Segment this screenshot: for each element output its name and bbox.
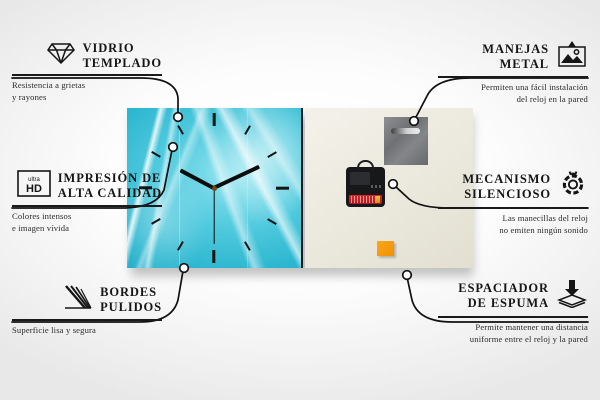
clock-tick	[213, 250, 216, 263]
clock-tick	[244, 241, 251, 251]
feature-sub-line1: Resistencia a grietas	[12, 79, 162, 91]
feature-espaciador-espuma: ESPACIADOR DE ESPUMA Permite mantener un…	[438, 278, 588, 345]
diamond-icon	[46, 40, 76, 71]
feature-rule	[438, 316, 588, 318]
svg-text:HD: HD	[26, 183, 42, 195]
foam-spacer-icon	[556, 278, 588, 313]
quartz-mechanism	[346, 167, 385, 207]
clock-tick	[177, 125, 184, 135]
clock-tick	[151, 151, 161, 158]
feature-vidrio-templado: VIDRIO TEMPLADO Resistencia a grietas y …	[12, 40, 162, 103]
feature-title-line2: DE ESPUMA	[458, 296, 549, 311]
feature-manejas-metal: MANEJAS METAL Permiten una fácil instala…	[438, 40, 588, 105]
metal-hanger-plate-icon	[384, 117, 428, 165]
feature-title-line2: TEMPLADO	[83, 56, 162, 71]
feature-title-line2: ALTA CALIDAD	[58, 186, 162, 201]
clock-hour-hand	[179, 168, 215, 190]
clock-tick	[213, 113, 216, 126]
mechanism-panel	[350, 172, 370, 185]
feature-sub-line2: y rayones	[12, 91, 162, 103]
feature-sub-line2: no emiten ningún sonido	[438, 224, 588, 236]
feature-rule	[12, 74, 162, 76]
battery	[349, 195, 382, 204]
clock-tick	[244, 125, 251, 135]
ultra-hd-icon: ultra HD	[17, 170, 51, 202]
feature-sub-line1: Superficie lisa y segura	[12, 324, 162, 336]
feature-sub-line2: e imagen vívida	[12, 222, 162, 234]
feature-impresion-alta-calidad: ultra HD IMPRESIÓN DE ALTA CALIDAD Color…	[12, 170, 162, 234]
product-panels	[127, 108, 473, 272]
clock-hub	[212, 186, 217, 191]
feature-sub-line1: Colores intensos	[12, 210, 162, 222]
feature-sub-line2: del reloj en la pared	[438, 93, 588, 105]
clock-minute-hand	[213, 165, 260, 190]
feature-rule	[438, 207, 588, 209]
feature-sub-line1: Las manecillas del reloj	[438, 212, 588, 224]
mechanism-hang-loop	[357, 160, 374, 170]
clock-tick	[276, 187, 289, 190]
feature-mecanismo-silencioso: MECANISMO SILENCIOSO Las manecillas del …	[438, 170, 588, 236]
feature-rule	[12, 319, 162, 321]
feature-title-line1: BORDES	[100, 285, 162, 300]
feature-sub-line2: uniforme entre el reloj y la pared	[438, 333, 588, 345]
feature-title-line1: ESPACIADOR	[458, 281, 549, 296]
clock-second-hand	[213, 188, 214, 244]
feature-title-line1: VIDRIO	[83, 41, 162, 56]
gear-icon	[558, 170, 588, 204]
feature-title-line1: MECANISMO	[462, 172, 551, 187]
picture-frame-icon	[556, 40, 588, 73]
clock-tick	[267, 151, 277, 158]
feature-sub-line1: Permiten una fácil instalación	[438, 81, 588, 93]
feature-title-line2: METAL	[482, 57, 549, 72]
feature-title-line2: SILENCIOSO	[462, 187, 551, 202]
feature-title-line1: MANEJAS	[482, 42, 549, 57]
feature-sub-line1: Permite mantener una distancia	[438, 321, 588, 333]
clock-tick	[177, 241, 184, 251]
feature-rule	[438, 76, 588, 78]
feature-title-line1: IMPRESIÓN DE	[58, 171, 162, 186]
feature-bordes-pulidos: BORDES PULIDOS Superficie lisa y segura	[12, 284, 162, 336]
infographic-canvas: VIDRIO TEMPLADO Resistencia a grietas y …	[0, 0, 600, 400]
mechanism-vents	[371, 185, 381, 188]
hanger-keyhole-slot	[391, 128, 420, 134]
polished-edges-icon	[63, 284, 93, 316]
feature-title-line2: PULIDOS	[100, 300, 162, 315]
feature-rule	[12, 205, 162, 207]
battery-label	[351, 196, 375, 203]
clock-tick	[267, 218, 277, 225]
foam-spacer-sample	[377, 241, 394, 256]
